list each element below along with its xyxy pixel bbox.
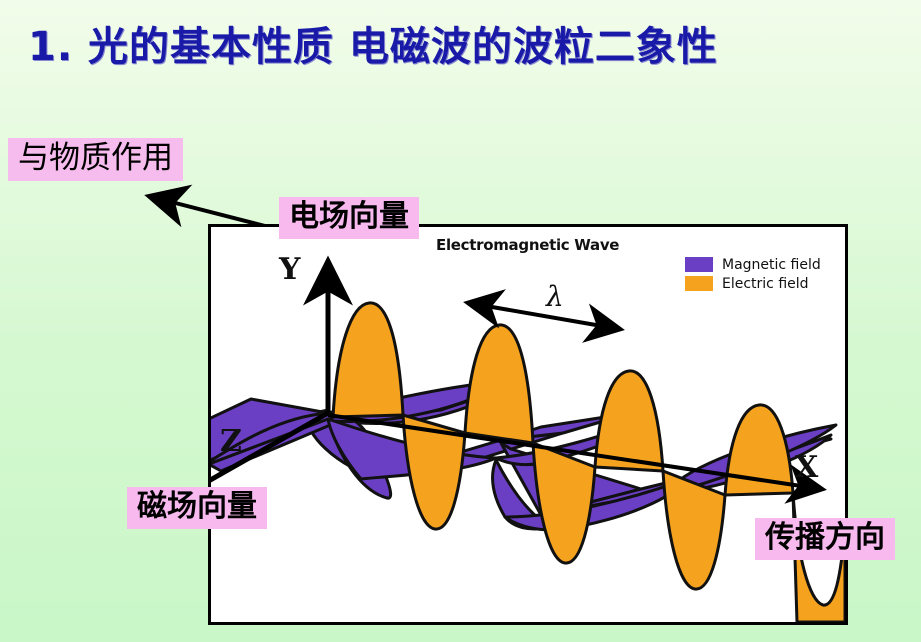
figure-caption: Electromagnetic Wave — [436, 236, 619, 254]
callout-propagation-direction: 传播方向 — [755, 518, 895, 560]
figure-legend: Magnetic field Electric field — [685, 255, 821, 293]
axis-label-y: Y — [279, 252, 300, 287]
callout-matter-interaction: 与物质作用 — [8, 138, 183, 181]
em-wave-figure: Electromagnetic Wave Y Z X λ Magnetic fi… — [208, 224, 848, 625]
page-title: 1. 光的基本性质 电磁波的波粒二象性 — [28, 14, 718, 72]
legend-swatch-magnetic — [685, 257, 713, 272]
legend-label-electric: Electric field — [722, 276, 809, 292]
slide-canvas: 1. 光的基本性质 电磁波的波粒二象性 与物质作用 — [0, 0, 921, 642]
legend-item-magnetic: Magnetic field — [685, 255, 821, 274]
axis-label-x: X — [795, 450, 818, 485]
axis-label-z: Z — [220, 424, 242, 459]
legend-swatch-electric — [685, 276, 713, 291]
electric-field-wave — [333, 303, 845, 622]
wavelength-arrow — [469, 303, 619, 329]
wavelength-symbol: λ — [546, 280, 564, 313]
callout-magnetic-field-vector: 磁场向量 — [127, 487, 267, 529]
callout-electric-field-vector: 电场向量 — [279, 197, 419, 239]
legend-item-electric: Electric field — [685, 274, 821, 293]
legend-label-magnetic: Magnetic field — [722, 257, 821, 273]
